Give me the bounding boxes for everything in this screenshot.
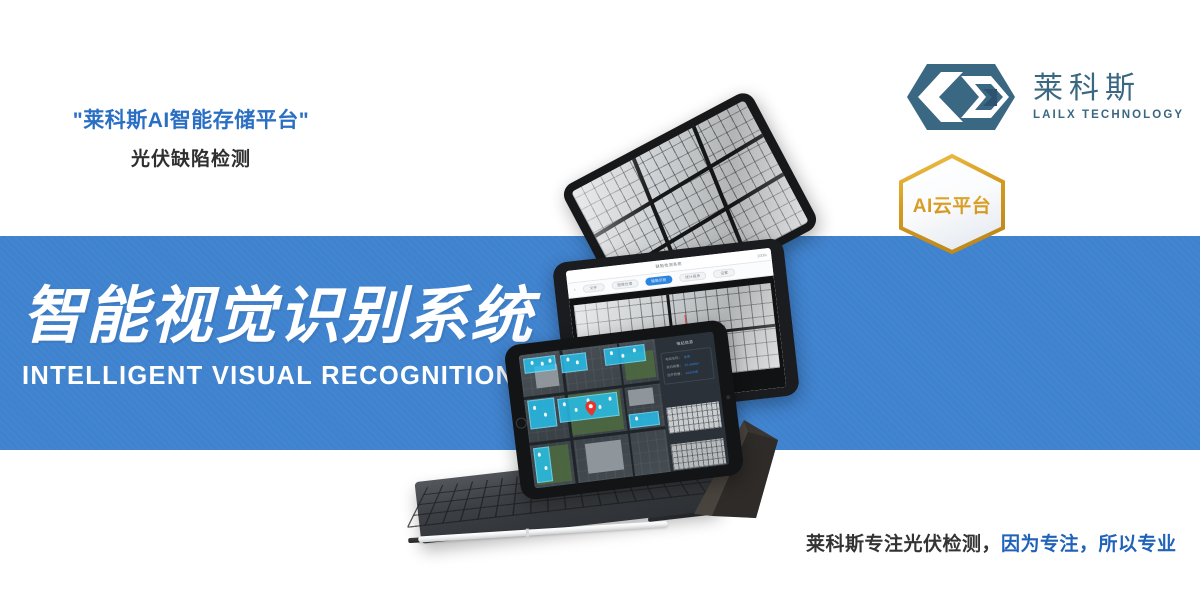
device-group: 缺陷检测系统 100% ‹ 文件 图像处理 缺陷识别 统计报表 设置	[390, 110, 890, 580]
panel-row-1-value: 20.48MW	[684, 361, 698, 367]
tablet-front: 电站信息 电站名称： 未来 装机容量： 20.48MW 组件数量	[503, 319, 744, 501]
panel-row-0-value: 未来	[683, 354, 690, 360]
brand-logo: 莱科斯 LAILX TECHNOLOGY	[905, 62, 1184, 132]
banner-stage: "莱科斯AI智能存储平台" 光伏缺陷检测 莱科斯 LAILX TECHNOLOG…	[0, 0, 1200, 600]
toolbar-button-2[interactable]: 缺陷识别	[645, 275, 673, 286]
ai-badge-label: AI云平台	[893, 152, 1011, 256]
ai-cloud-platform-badge: AI云平台	[893, 152, 1011, 256]
panel-row-2-key: 组件数量：	[667, 370, 684, 377]
location-pin-icon[interactable]	[585, 400, 598, 416]
camera-icon	[726, 395, 730, 399]
tablet-front-bezel: 电站信息 电站名称： 未来 装机容量： 20.48MW 组件数量	[503, 319, 744, 501]
header-kicker: "莱科斯AI智能存储平台"	[66, 104, 316, 134]
panel-thumbnail-2[interactable]	[671, 438, 727, 470]
panel-rows: 电站名称： 未来 装机容量： 20.48MW 组件数量： 62400块	[661, 347, 715, 385]
toolbar-button-3[interactable]: 统计报表	[679, 271, 707, 282]
header-kicker-sub: 光伏缺陷检测	[66, 144, 316, 171]
tablet-front-screen[interactable]: 电站信息 电站名称： 未来 装机容量： 20.48MW 组件数量	[519, 332, 730, 489]
battery-indicator: 100%	[757, 252, 768, 258]
tagline-blue: 因为专注，所以专业	[1001, 534, 1177, 555]
back-arrow-icon[interactable]: ‹	[574, 287, 576, 293]
toolbar-button-4[interactable]: 设置	[713, 268, 736, 278]
map-building-4	[527, 397, 558, 430]
hexagon-chevron-logo-icon	[905, 62, 1017, 132]
brand-name-cn: 莱科斯	[1033, 73, 1184, 105]
map-building-2	[560, 353, 588, 373]
toolbar-button-0[interactable]: 文件	[582, 283, 605, 293]
panel-row-2: 组件数量： 62400块	[667, 367, 710, 377]
panel-row-1-key: 装机容量：	[666, 363, 683, 370]
aerial-map-view[interactable]	[519, 339, 671, 489]
brand-name-en: LAILX TECHNOLOGY	[1033, 109, 1184, 121]
panel-row-0-key: 电站名称：	[665, 355, 682, 362]
stylus-band	[526, 529, 529, 537]
panel-row-2-value: 62400块	[685, 369, 698, 375]
brand-logo-text: 莱科斯 LAILX TECHNOLOGY	[1033, 73, 1184, 122]
app-title: 缺陷检测系统	[655, 261, 682, 270]
panel-thumbnail-1[interactable]	[666, 401, 722, 433]
toolbar-button-1[interactable]: 图像处理	[611, 279, 639, 290]
